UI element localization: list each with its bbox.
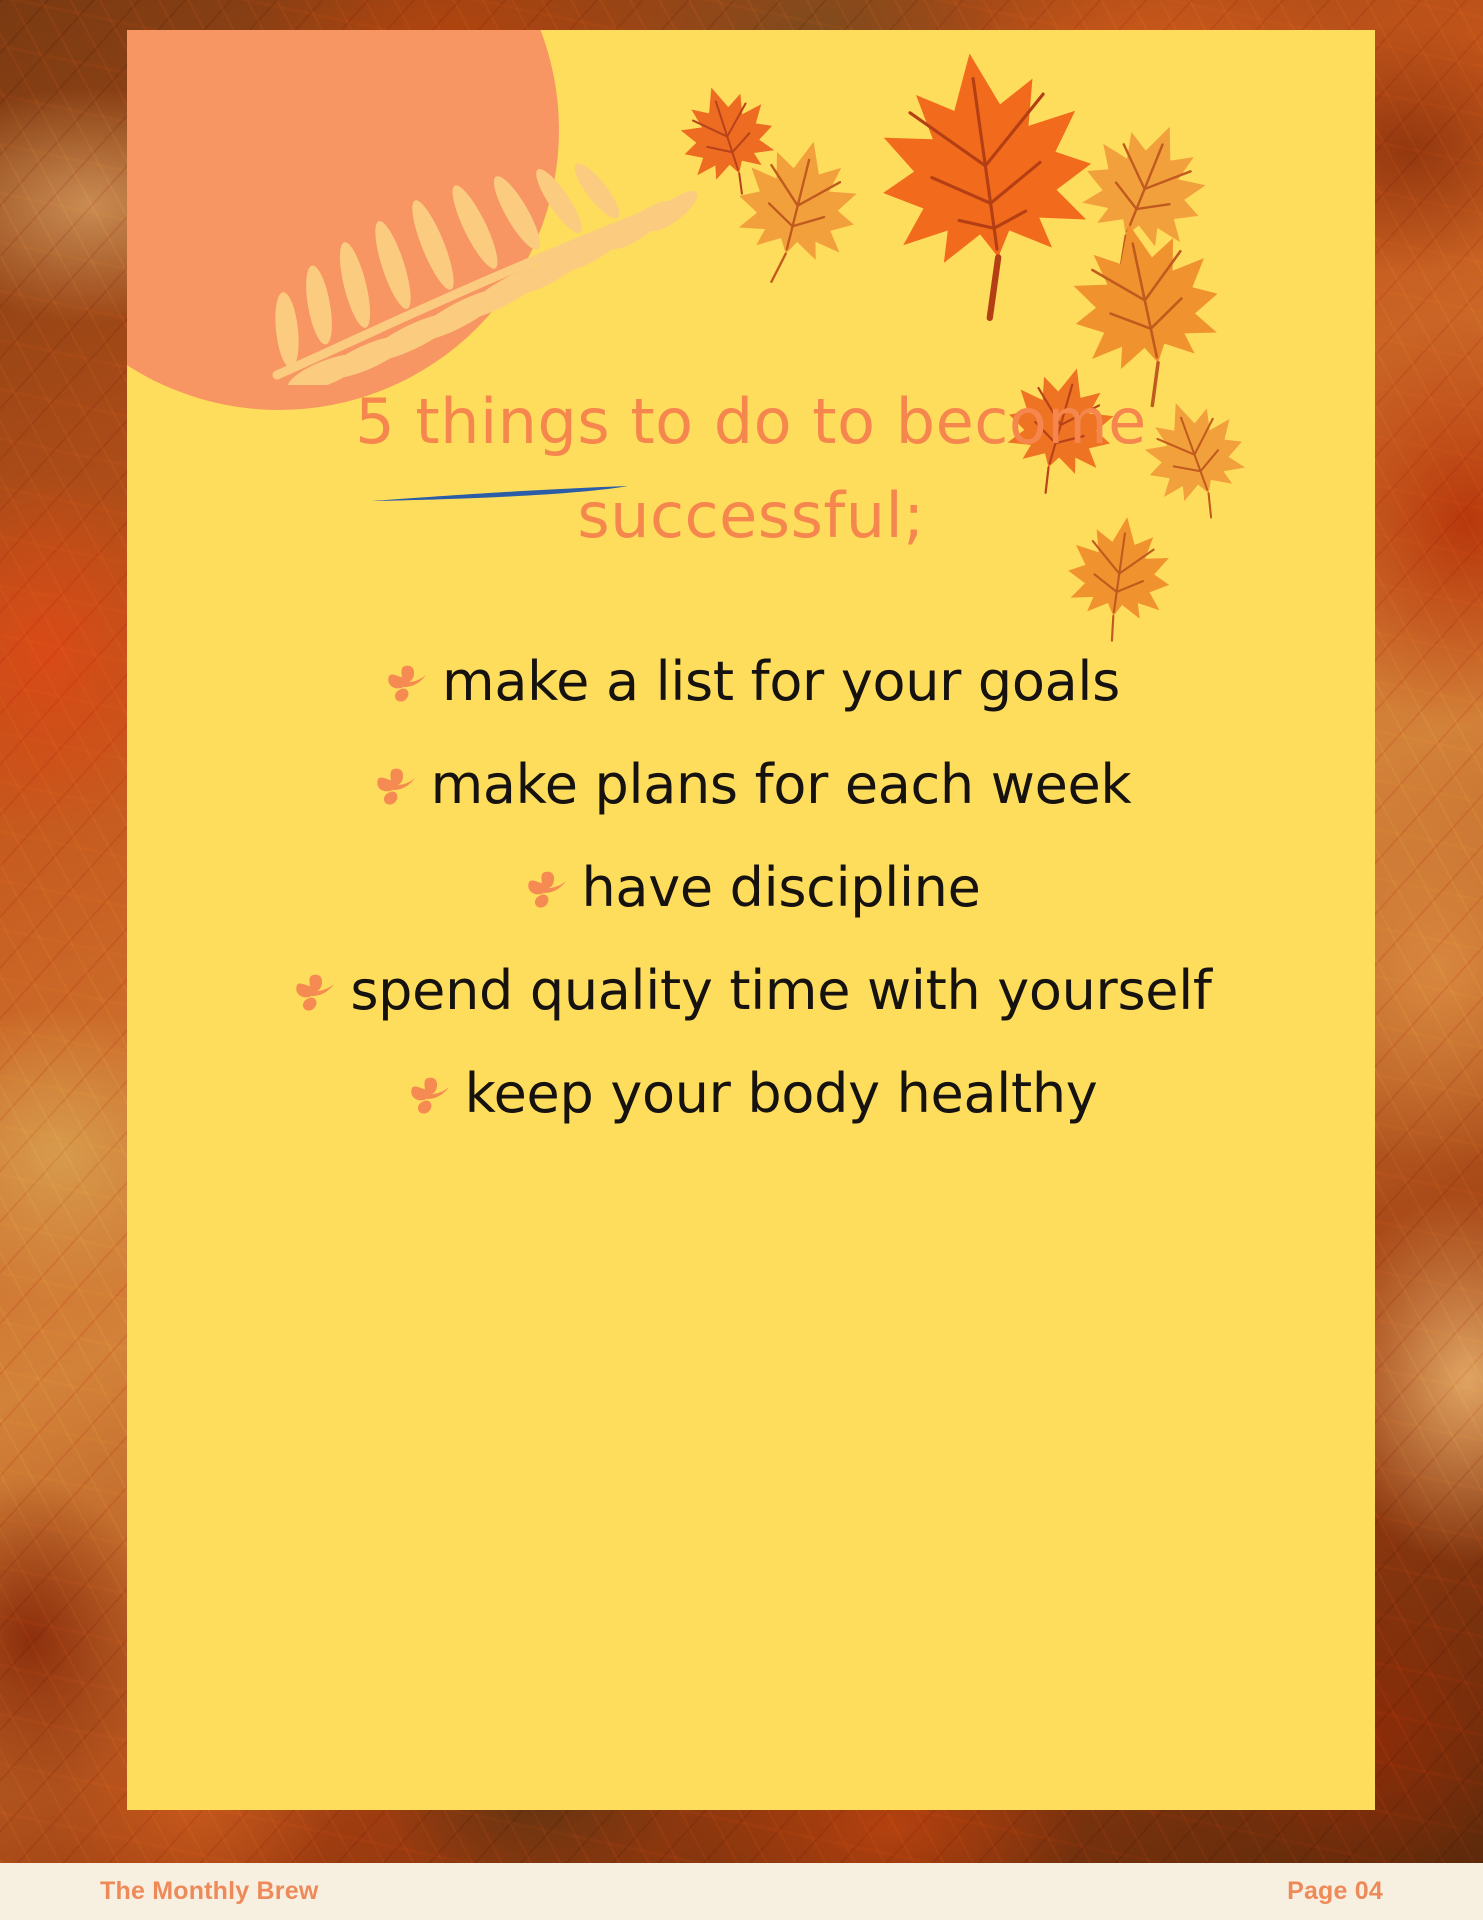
- leaf-sprout-icon: [290, 968, 336, 1014]
- list-item-label: make plans for each week: [431, 753, 1132, 816]
- page-footer: The Monthly Brew Page 04: [0, 1863, 1483, 1920]
- leaf-sprout-icon: [371, 762, 417, 808]
- leaf-sprout-icon: [522, 865, 568, 911]
- footer-page-number: Page 04: [1287, 1877, 1383, 1906]
- list-item-label: have discipline: [582, 856, 981, 919]
- list-item-label: keep your body healthy: [465, 1062, 1098, 1125]
- list-item: spend quality time with yourself: [127, 939, 1375, 1042]
- page-root: 5 things to do to become successful; mak…: [0, 0, 1483, 1920]
- content-card: 5 things to do to become successful; mak…: [127, 30, 1375, 1810]
- page-title-line-1: 5 things to do to become: [127, 375, 1375, 469]
- footer-publication-name: The Monthly Brew: [100, 1877, 318, 1906]
- list-item-label: make a list for your goals: [442, 650, 1120, 713]
- leaf-sprout-icon: [405, 1071, 451, 1117]
- title-underline-stroke: [370, 483, 632, 505]
- list-item: make a list for your goals: [127, 630, 1375, 733]
- maple-leaf-icon-2: [721, 127, 871, 298]
- page-title-line-2: successful;: [127, 469, 1375, 563]
- list-item: have discipline: [127, 836, 1375, 939]
- maple-leaf-icon-3: [866, 39, 1111, 330]
- maple-leaf-icon-4: [1058, 104, 1225, 287]
- leaf-sprout-icon: [382, 659, 428, 705]
- fern-frond-icon: [237, 125, 707, 385]
- tips-list: make a list for your goals make plans fo…: [127, 630, 1375, 1145]
- list-item-label: spend quality time with yourself: [350, 959, 1211, 1022]
- page-title: 5 things to do to become successful;: [127, 375, 1375, 563]
- list-item: make plans for each week: [127, 733, 1375, 836]
- list-item: keep your body healthy: [127, 1042, 1375, 1145]
